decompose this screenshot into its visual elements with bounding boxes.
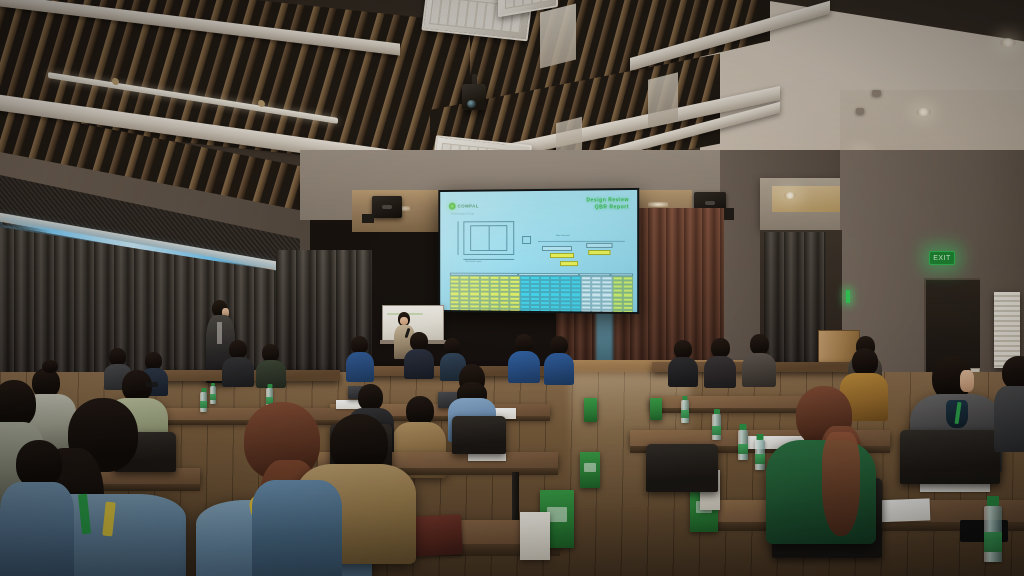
table-col-b4 [550,276,560,312]
exit-sign: EXIT [929,251,955,265]
attendee-left-5 [222,340,254,382]
table-col-c2 [591,276,601,312]
table-col-a5 [490,276,500,312]
slide-logo-text: COMPAL [458,203,479,208]
water-bottle-5 [755,440,765,470]
attendee-center-front-blue [252,470,342,576]
water-bottle-6 [984,506,1002,562]
attendee-right-7-body [704,356,736,388]
light-fixture-clip-2 [258,99,265,107]
slide-logo: COMPAL [449,202,479,209]
attendee-right-6 [668,340,698,384]
attendee-center-4-body [404,349,434,379]
slide-anno-highlight-3 [560,261,578,266]
light-fixture-clip-1 [112,77,119,85]
slide-logo-mark-icon [449,203,456,210]
attendee-center-8-body [544,353,574,385]
slide-logo-subtitle: Technology Group [451,212,475,215]
attendee-right-8 [742,334,776,384]
attendee-left-5-body [222,357,254,387]
slat-light-reflection-1 [540,4,576,69]
desk-front-center-leg [512,472,519,524]
speaker-driver-left [382,205,392,209]
table-col-a1 [450,276,460,312]
speaker-bracket-left [362,214,374,223]
presenter-speaking-face [400,317,408,325]
indicator-light-green [846,290,850,303]
slide-cad-divider [489,225,490,251]
attendee-right-2-face [960,370,974,392]
attendee-center-5 [346,336,374,378]
water-bottle-7 [712,414,721,440]
slide-cad-dim-h [463,259,514,260]
slide-anno-highlight-1 [550,253,574,258]
exit-sign-label: EXIT [933,255,951,262]
projector [462,84,486,110]
tote-bag-green-3 [584,398,597,422]
attendee-center-8 [544,336,574,382]
conference-room-scene: EXIT COMPAL Technology Group Design Revi… [0,0,1024,576]
slide-anno-box-1 [542,246,572,251]
slide-title-block: Design Review QBR Report [536,197,629,211]
table-col-a4 [480,276,490,312]
soffit-downlight [784,192,796,199]
attendee-right-8-body [742,353,776,387]
table-col-a2 [460,276,470,312]
tote-bag-green-2 [580,452,600,488]
attendee-center-front-blue-body [252,480,342,576]
attendee-right-7 [704,338,736,384]
table-col-c3 [602,276,612,312]
attendee-left-front-c-head [16,440,62,488]
table-col-b5 [560,276,570,312]
speaker-driver-right [705,201,715,205]
projection-screen[interactable]: COMPAL Technology Group Design Review QB… [438,188,639,314]
slide-cad-dim-v [458,221,459,255]
attendee-left-1-bun [42,360,58,373]
downlight-1 [1000,38,1016,47]
table-col-b2 [530,276,540,312]
attendee-center-7 [508,334,540,380]
table-col-d1 [612,276,622,312]
attendee-edge-right [994,356,1024,446]
slide-note-label: Spec Summary [556,235,570,237]
spot-fixture-2 [856,108,864,114]
water-bottle-8 [681,400,689,423]
table-col-d2 [623,276,633,312]
water-bottle-4 [738,430,748,460]
slide-anno-box-2 [586,243,612,248]
table-col-b6 [571,276,581,312]
chair-5[interactable] [646,444,718,492]
spot-fixture-1 [872,90,881,96]
attendee-right-6-body [668,357,698,387]
slide-cad-dimension-label: Mechanical Layout [465,261,481,263]
projection-screen-surface: COMPAL Technology Group Design Review QB… [440,190,637,312]
downlight-2 [916,108,931,116]
attendee-right-1 [766,386,886,536]
attendee-right-1-hair-front [822,432,860,536]
table-col-a3 [470,276,480,312]
attendee-edge-right-head [1002,356,1024,390]
slat-light-reflection-2 [648,72,678,127]
attendee-edge-left-head [0,380,36,428]
table-col-a7 [510,276,520,312]
slide-cad-detail [522,236,531,244]
glasses-icon [146,382,158,387]
wall-wash-light-right [648,202,668,207]
attendee-center-4 [404,332,434,376]
attendee-right-8-head [750,334,769,355]
attendee-center-7-body [508,351,540,383]
chair-2[interactable] [452,416,506,454]
attendee-center-5-body [346,352,374,382]
chair-4[interactable] [900,430,1000,484]
attendee-edge-right-body [994,386,1024,452]
slide-anno-highlight-2 [588,250,610,255]
table-col-b1 [520,276,530,312]
tote-bag-green-4 [650,398,662,420]
table-col-c1 [581,276,591,312]
projector-lens [467,100,476,108]
attendee-left-front-c [0,440,74,576]
slide-table-body [450,276,633,312]
table-col-b3 [540,276,550,312]
table-col-a6 [500,276,510,312]
tote-bag-white-1 [520,512,550,560]
slide-title-line2: QBR Report [536,204,629,212]
wall-speaker-left [372,196,402,218]
attendee-left-6 [256,344,286,384]
slide-data-table [450,273,633,312]
attendee-left-front-c-body [0,482,74,576]
attendee-right-7-head [711,338,730,358]
attendee-right-3-head [852,348,878,376]
slide-rule-1 [538,241,625,242]
